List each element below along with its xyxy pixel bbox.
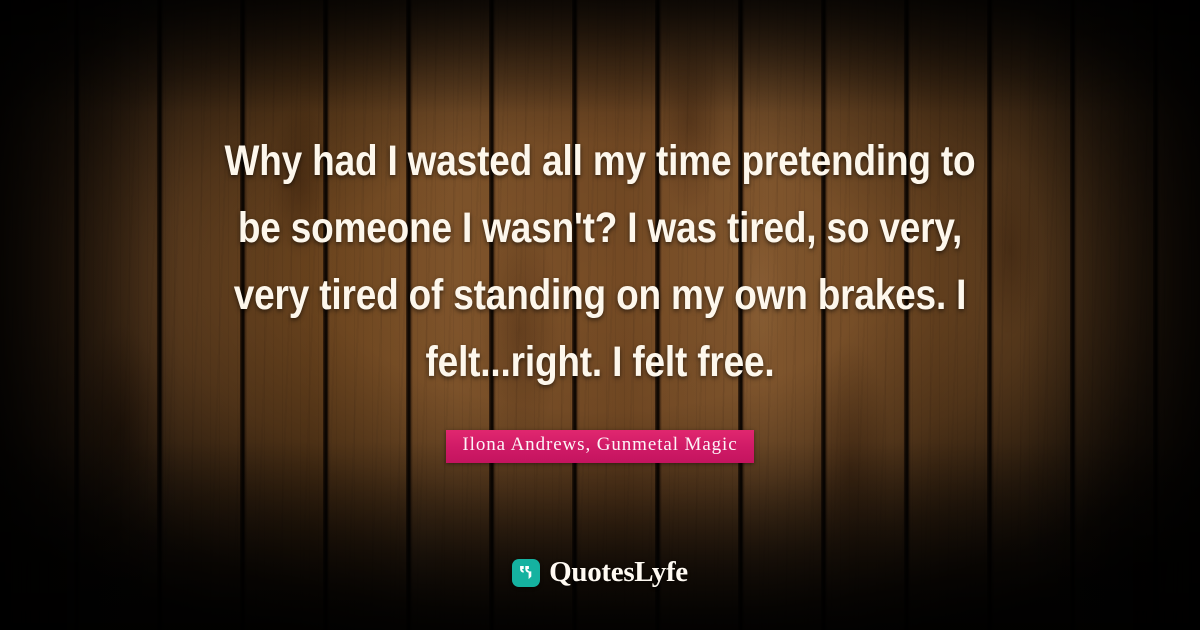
quote-card: Why had I wasted all my time pretending …: [0, 0, 1200, 630]
quote-text: Why had I wasted all my time pretending …: [213, 128, 987, 396]
card-content: Why had I wasted all my time pretending …: [0, 0, 1200, 630]
attribution-badge: Ilona Andrews, Gunmetal Magic: [446, 430, 753, 463]
quote-mark-icon: [512, 559, 540, 587]
brand-logo[interactable]: QuotesLyfe: [0, 556, 1200, 589]
brand-wordmark: QuotesLyfe: [549, 556, 688, 589]
